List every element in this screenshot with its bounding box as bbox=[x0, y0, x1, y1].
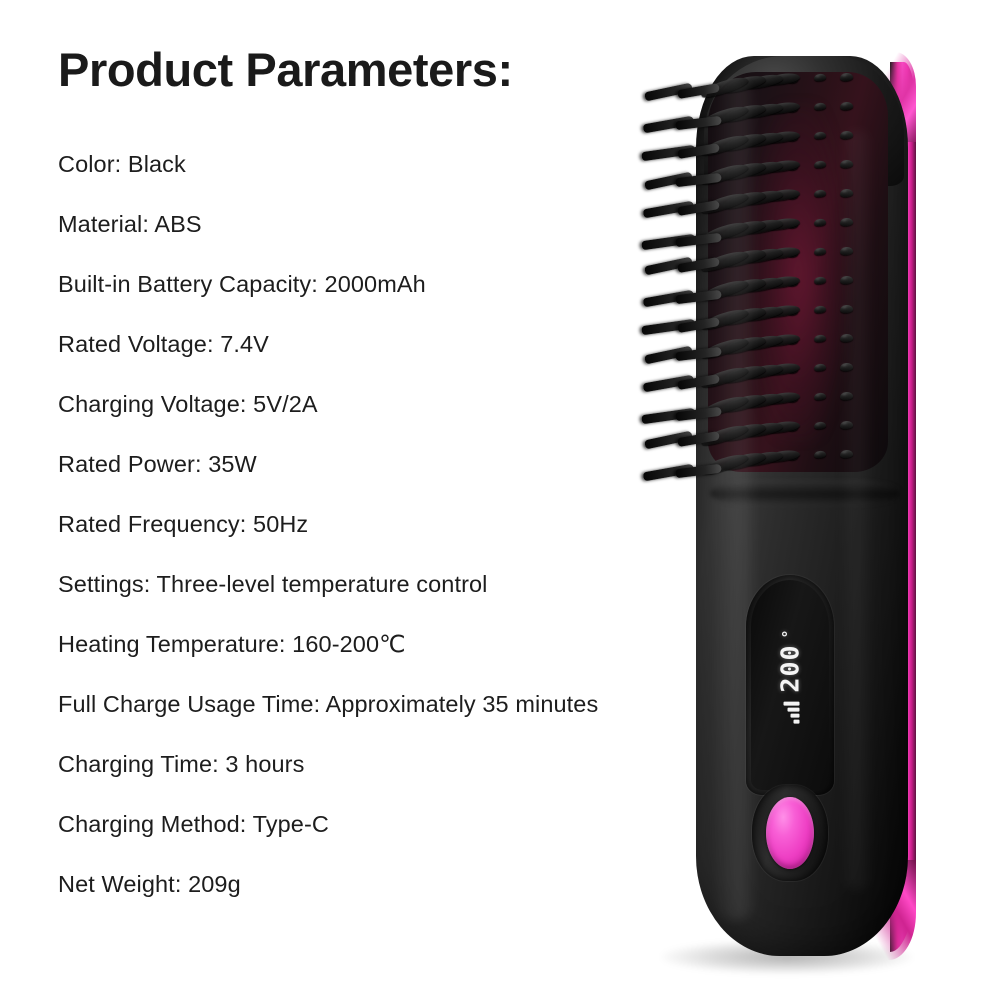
bristle-row bbox=[654, 72, 914, 92]
bristle-row bbox=[654, 449, 914, 469]
battery-level-icon bbox=[784, 702, 800, 724]
temperature-value: 200 bbox=[778, 644, 803, 692]
bristle-field bbox=[654, 66, 914, 486]
bristle-pin bbox=[814, 219, 826, 228]
display-readout: 200 ° bbox=[778, 629, 803, 723]
bristle-pin bbox=[814, 335, 826, 344]
bristle-pin bbox=[840, 101, 854, 110]
bristle-pin bbox=[814, 190, 826, 199]
bristle-row bbox=[654, 217, 914, 237]
body-highlight-right bbox=[840, 130, 874, 890]
bristle-row bbox=[654, 246, 914, 266]
bristle-pin bbox=[814, 132, 826, 141]
bristle-pin bbox=[814, 451, 826, 460]
bristle-pin bbox=[814, 103, 826, 112]
bristle-row bbox=[654, 362, 914, 382]
bristle-row bbox=[654, 420, 914, 440]
bristle-row bbox=[654, 333, 914, 353]
bristle-row bbox=[654, 275, 914, 295]
bristle-pin bbox=[840, 72, 854, 81]
display-bezel: 200 ° bbox=[746, 575, 834, 795]
bristle-pin bbox=[814, 74, 826, 83]
bristle-pin bbox=[814, 248, 826, 257]
product-image: 200 ° bbox=[600, 10, 1000, 1000]
bristle-row bbox=[654, 304, 914, 324]
bristle-row bbox=[654, 159, 914, 179]
power-button-recess bbox=[752, 785, 828, 881]
bristle-pin bbox=[814, 422, 826, 431]
product-parameters-page: Product Parameters: Color: Black Materia… bbox=[0, 0, 1000, 1000]
bristle-pin bbox=[814, 306, 826, 315]
bristle-row bbox=[654, 391, 914, 411]
power-button[interactable] bbox=[766, 797, 814, 869]
bristle-pin bbox=[814, 364, 826, 373]
bristle-pin bbox=[814, 277, 826, 286]
bristle-row bbox=[654, 101, 914, 121]
display-screen: 200 ° bbox=[751, 580, 829, 790]
temperature-unit: ° bbox=[782, 629, 797, 638]
bristle-row bbox=[654, 188, 914, 208]
bristle-pin bbox=[814, 161, 826, 170]
bristle-pin bbox=[814, 393, 826, 402]
body-highlight-left bbox=[712, 80, 758, 920]
bristle-row bbox=[654, 130, 914, 150]
